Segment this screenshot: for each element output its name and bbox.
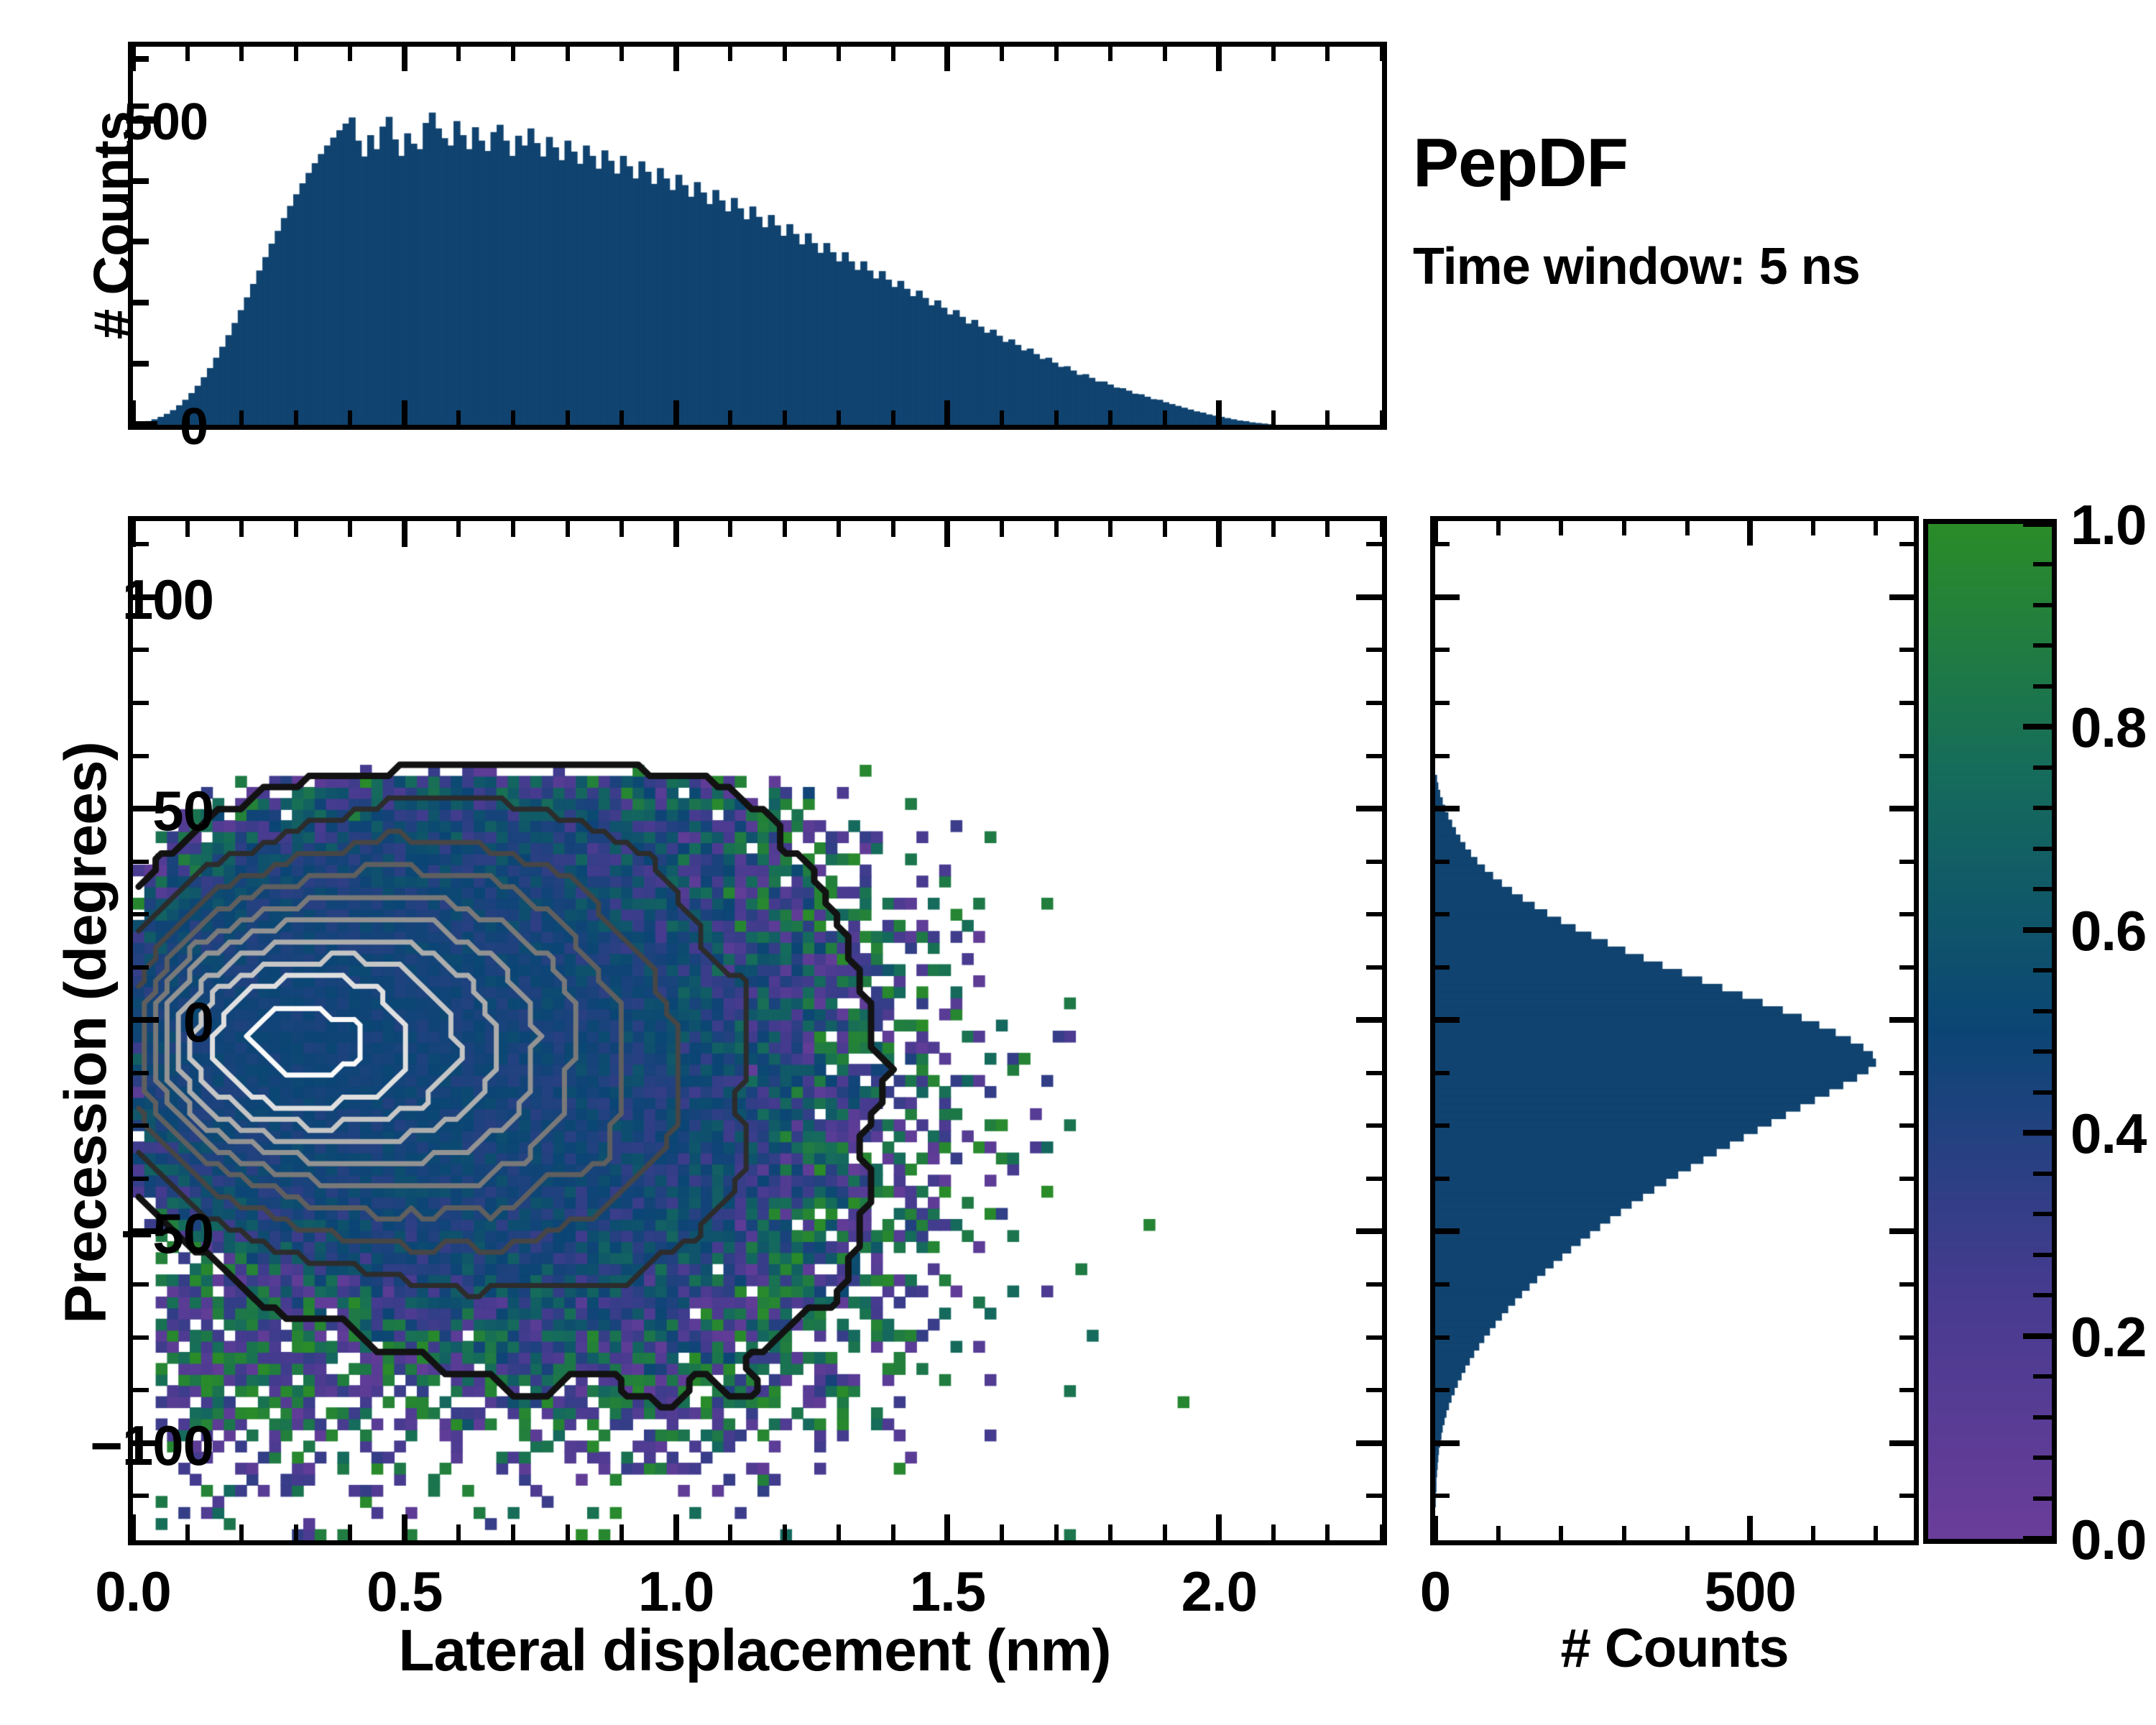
tick-mark	[1435, 965, 1450, 970]
tick-mark	[1899, 1282, 1914, 1287]
tick-mark	[1435, 1440, 1460, 1446]
main-heatmap-canvas	[133, 521, 1382, 1540]
tick-mark	[1163, 47, 1167, 61]
tick-mark	[783, 1524, 787, 1540]
tick-mark	[1747, 521, 1753, 546]
axis-tick-label: 50	[0, 778, 213, 844]
axis-tick-label: 500	[0, 93, 208, 152]
tick-mark	[1889, 1017, 1914, 1023]
tick-mark	[2033, 765, 2052, 770]
right-marginal-histogram-panel	[1430, 516, 1919, 1545]
tick-mark	[1366, 1123, 1382, 1128]
tick-mark	[1899, 648, 1914, 652]
tick-mark	[1811, 1526, 1815, 1540]
tick-mark	[1899, 1388, 1914, 1392]
tick-mark	[2033, 1049, 2052, 1054]
tick-mark	[1685, 1526, 1690, 1540]
tick-mark	[1435, 701, 1450, 705]
tick-mark	[1380, 521, 1384, 537]
tick-mark	[1216, 1514, 1222, 1540]
tick-mark	[1325, 521, 1330, 537]
axis-tick-label: 1.0	[568, 1559, 784, 1624]
tick-mark	[348, 410, 352, 425]
tick-mark	[783, 410, 787, 425]
axis-tick-label: 2.0	[1111, 1559, 1327, 1624]
tick-mark	[1366, 1388, 1382, 1392]
tick-mark	[1435, 806, 1460, 811]
main-heatmap-panel	[128, 516, 1387, 1545]
tick-mark	[1622, 521, 1626, 535]
tick-mark	[944, 521, 950, 547]
tick-mark	[1889, 1440, 1914, 1446]
tick-mark	[1271, 521, 1276, 537]
tick-mark	[1054, 1524, 1059, 1540]
tick-mark	[1435, 594, 1460, 600]
tick-mark	[133, 361, 149, 367]
tick-mark	[728, 410, 732, 425]
tick-mark	[1054, 47, 1059, 61]
tick-mark	[1435, 1335, 1450, 1340]
tick-mark	[1685, 521, 1690, 535]
tick-mark	[456, 410, 461, 425]
tick-mark	[566, 1524, 570, 1540]
axis-tick-label: 0.0	[25, 1559, 241, 1624]
tick-mark	[673, 400, 679, 425]
tick-mark	[1435, 1228, 1460, 1234]
tick-mark	[133, 1123, 149, 1128]
tick-mark	[1811, 521, 1815, 535]
tick-mark	[1899, 1123, 1914, 1128]
tick-mark	[891, 1524, 895, 1540]
tick-mark	[619, 521, 624, 537]
tick-mark	[456, 47, 461, 61]
tick-mark	[566, 47, 570, 61]
tick-mark	[1747, 1516, 1753, 1540]
axis-tick-label: 0.8	[2070, 695, 2156, 760]
axis-tick-label: 0	[0, 397, 208, 456]
tick-mark	[2023, 927, 2052, 933]
axis-tick-label: 0.0	[2070, 1507, 2156, 1573]
tick-mark	[1496, 521, 1501, 535]
tick-mark	[1054, 521, 1059, 537]
tick-mark	[133, 1177, 149, 1181]
tick-mark	[1216, 400, 1222, 425]
tick-mark	[402, 521, 407, 547]
tick-mark	[133, 300, 149, 305]
tick-mark	[783, 47, 787, 61]
tick-mark	[239, 1524, 244, 1540]
tick-mark	[511, 47, 515, 61]
tick-mark	[1271, 1524, 1276, 1540]
tick-mark	[2033, 1455, 2052, 1460]
tick-mark	[456, 1524, 461, 1540]
tick-mark	[2033, 806, 2052, 810]
tick-mark	[1889, 1228, 1914, 1234]
tick-mark	[1108, 47, 1112, 61]
tick-mark	[1366, 754, 1382, 758]
tick-mark	[1899, 754, 1914, 758]
tick-mark	[1435, 1494, 1450, 1498]
tick-mark	[294, 1524, 298, 1540]
tick-mark	[2033, 1090, 2052, 1095]
tick-mark	[2033, 1293, 2052, 1297]
tick-mark	[1000, 47, 1004, 61]
axis-tick-label: 500	[1642, 1559, 1858, 1624]
tick-mark	[1271, 410, 1276, 425]
top-marginal-histogram-panel	[128, 42, 1387, 430]
tick-mark	[2033, 1253, 2052, 1257]
tick-mark	[1435, 648, 1450, 652]
axis-tick-label: 100	[0, 567, 213, 632]
tick-mark	[133, 754, 149, 758]
tick-mark	[133, 648, 149, 652]
tick-mark	[133, 1071, 149, 1075]
tick-mark	[2033, 968, 2052, 972]
tick-mark	[185, 47, 190, 61]
tick-mark	[944, 400, 950, 425]
tick-mark	[1000, 521, 1004, 537]
tick-mark	[1366, 860, 1382, 864]
tick-mark	[1366, 701, 1382, 705]
tick-mark	[1899, 1071, 1914, 1075]
tick-mark	[185, 521, 190, 537]
tick-mark	[1435, 1071, 1450, 1075]
tick-mark	[837, 1524, 841, 1540]
tick-mark	[133, 1282, 149, 1287]
tick-mark	[1366, 1494, 1382, 1498]
axis-tick-label: 0.2	[2070, 1305, 2156, 1370]
tick-mark	[1899, 912, 1914, 916]
tick-mark	[133, 965, 149, 970]
tick-mark	[2033, 603, 2052, 607]
tick-mark	[1000, 1524, 1004, 1540]
tick-mark	[2023, 724, 2052, 730]
tick-mark	[1899, 965, 1914, 970]
tick-mark	[1216, 521, 1222, 547]
tick-mark	[891, 410, 895, 425]
tick-mark	[1366, 965, 1382, 970]
tick-mark	[133, 860, 149, 864]
tick-mark	[1325, 47, 1330, 61]
tick-mark	[1325, 410, 1330, 425]
tick-mark	[728, 47, 732, 61]
tick-mark	[1889, 594, 1914, 600]
tick-mark	[2033, 684, 2052, 689]
tick-mark	[2023, 1333, 2052, 1339]
tick-mark	[837, 521, 841, 537]
tick-mark	[1432, 1516, 1438, 1540]
tick-mark	[1899, 701, 1914, 705]
tick-mark	[133, 701, 149, 705]
tick-mark	[2023, 1536, 2052, 1542]
tick-mark	[837, 47, 841, 61]
tick-mark	[2033, 1415, 2052, 1420]
tick-mark	[185, 410, 190, 425]
tick-mark	[133, 1494, 149, 1498]
tick-mark	[1435, 860, 1450, 864]
tick-mark	[348, 521, 352, 537]
right-histogram-canvas	[1435, 521, 1914, 1540]
tick-mark	[1899, 1335, 1914, 1340]
tick-mark	[1356, 594, 1382, 600]
tick-mark	[1889, 806, 1914, 811]
tick-mark	[1366, 1071, 1382, 1075]
tick-mark	[133, 178, 149, 184]
tick-mark	[1366, 912, 1382, 916]
tick-mark	[511, 1524, 515, 1540]
tick-mark	[1380, 410, 1384, 425]
tick-mark	[133, 1388, 149, 1392]
tick-mark	[1874, 1526, 1878, 1540]
tick-mark	[1000, 410, 1004, 425]
tick-mark	[130, 400, 136, 425]
tick-mark	[1054, 410, 1059, 425]
tick-mark	[1899, 1177, 1914, 1181]
tick-mark	[2033, 1009, 2052, 1013]
tick-mark	[1899, 542, 1914, 546]
tick-mark	[2033, 847, 2052, 851]
tick-mark	[619, 1524, 624, 1540]
tick-mark	[511, 521, 515, 537]
tick-mark	[294, 410, 298, 425]
axis-tick-label: −50	[0, 1201, 213, 1266]
tick-mark	[783, 521, 787, 537]
axis-tick-label: −100	[0, 1413, 213, 1478]
main-x-axis-label: Lateral displacement (nm)	[287, 1617, 1222, 1685]
tick-mark	[2033, 643, 2052, 648]
tick-mark	[2033, 887, 2052, 891]
tick-mark	[239, 521, 244, 537]
tick-mark	[2033, 1212, 2052, 1216]
tick-mark	[1356, 1440, 1382, 1446]
figure-root: # Counts Precession (degrees) Lateral di…	[0, 0, 2156, 1725]
tick-mark	[1435, 1017, 1460, 1023]
tick-mark	[673, 521, 679, 547]
tick-mark	[1435, 542, 1450, 546]
tick-mark	[511, 410, 515, 425]
axis-tick-label: 0.5	[297, 1559, 512, 1624]
tick-mark	[1366, 648, 1382, 652]
tick-mark	[619, 47, 624, 61]
tick-mark	[130, 47, 136, 71]
axis-tick-label: 0	[1327, 1559, 1543, 1624]
tick-mark	[1163, 521, 1167, 537]
axis-tick-label: 1.0	[2070, 492, 2156, 558]
tick-mark	[1356, 806, 1382, 811]
tick-mark	[1108, 521, 1112, 537]
tick-mark	[1899, 1494, 1914, 1498]
tick-mark	[1622, 1526, 1626, 1540]
tick-mark	[2033, 1496, 2052, 1501]
tick-mark	[1435, 1177, 1450, 1181]
tick-mark	[130, 1514, 136, 1540]
axis-tick-label: 1.5	[839, 1559, 1055, 1624]
tick-mark	[944, 47, 950, 71]
axis-tick-label: 0.4	[2070, 1101, 2156, 1167]
tick-mark	[402, 400, 407, 425]
tick-mark	[185, 1524, 190, 1540]
tick-mark	[1435, 912, 1450, 916]
tick-mark	[2033, 562, 2052, 566]
tick-mark	[1435, 1282, 1450, 1287]
colorbar-panel	[1923, 519, 2057, 1544]
tick-mark	[1435, 1388, 1450, 1392]
tick-mark	[456, 521, 461, 537]
right-histogram-x-axis-label: # Counts	[1430, 1617, 1919, 1680]
tick-mark	[1366, 1335, 1382, 1340]
tick-mark	[239, 410, 244, 425]
tick-mark	[1271, 47, 1276, 61]
tick-mark	[2023, 1130, 2052, 1136]
tick-mark	[1163, 1524, 1167, 1540]
tick-mark	[891, 47, 895, 61]
tick-mark	[348, 1524, 352, 1540]
tick-mark	[294, 47, 298, 61]
tick-mark	[1366, 1282, 1382, 1287]
tick-mark	[1380, 1524, 1384, 1540]
tick-mark	[1874, 521, 1878, 535]
tick-mark	[2033, 1172, 2052, 1176]
figure-subtitle: Time window: 5 ns	[1413, 237, 1860, 296]
tick-mark	[402, 47, 407, 71]
tick-mark	[1108, 410, 1112, 425]
tick-mark	[1559, 1526, 1563, 1540]
tick-mark	[133, 542, 149, 546]
top-histogram-canvas	[133, 47, 1382, 425]
tick-mark	[2033, 1374, 2052, 1379]
tick-mark	[1496, 1526, 1501, 1540]
tick-mark	[294, 521, 298, 537]
tick-mark	[728, 521, 732, 537]
tick-mark	[133, 239, 149, 244]
tick-mark	[1899, 860, 1914, 864]
tick-mark	[348, 47, 352, 61]
tick-mark	[891, 521, 895, 537]
tick-mark	[1163, 410, 1167, 425]
tick-mark	[566, 521, 570, 537]
tick-mark	[239, 47, 244, 61]
tick-mark	[728, 1524, 732, 1540]
tick-mark	[1435, 754, 1450, 758]
tick-mark	[1380, 47, 1384, 61]
tick-mark	[1356, 1017, 1382, 1023]
tick-mark	[1366, 1177, 1382, 1181]
tick-mark	[1216, 47, 1222, 71]
tick-mark	[566, 410, 570, 425]
axis-tick-label: 0.6	[2070, 898, 2156, 964]
axis-tick-label: 0	[0, 990, 213, 1055]
colorbar-canvas	[1928, 524, 2052, 1539]
tick-mark	[1559, 521, 1563, 535]
tick-mark	[1325, 1524, 1330, 1540]
tick-mark	[2023, 521, 2052, 527]
tick-mark	[944, 1514, 950, 1540]
tick-mark	[673, 1514, 679, 1540]
tick-mark	[1435, 1123, 1450, 1128]
tick-mark	[837, 410, 841, 425]
tick-mark	[1108, 1524, 1112, 1540]
tick-mark	[133, 1335, 149, 1340]
tick-mark	[619, 410, 624, 425]
tick-mark	[1356, 1228, 1382, 1234]
tick-mark	[402, 1514, 407, 1540]
figure-title: PepDF	[1413, 124, 1628, 203]
tick-mark	[1366, 542, 1382, 546]
tick-mark	[133, 912, 149, 916]
tick-mark	[673, 47, 679, 71]
